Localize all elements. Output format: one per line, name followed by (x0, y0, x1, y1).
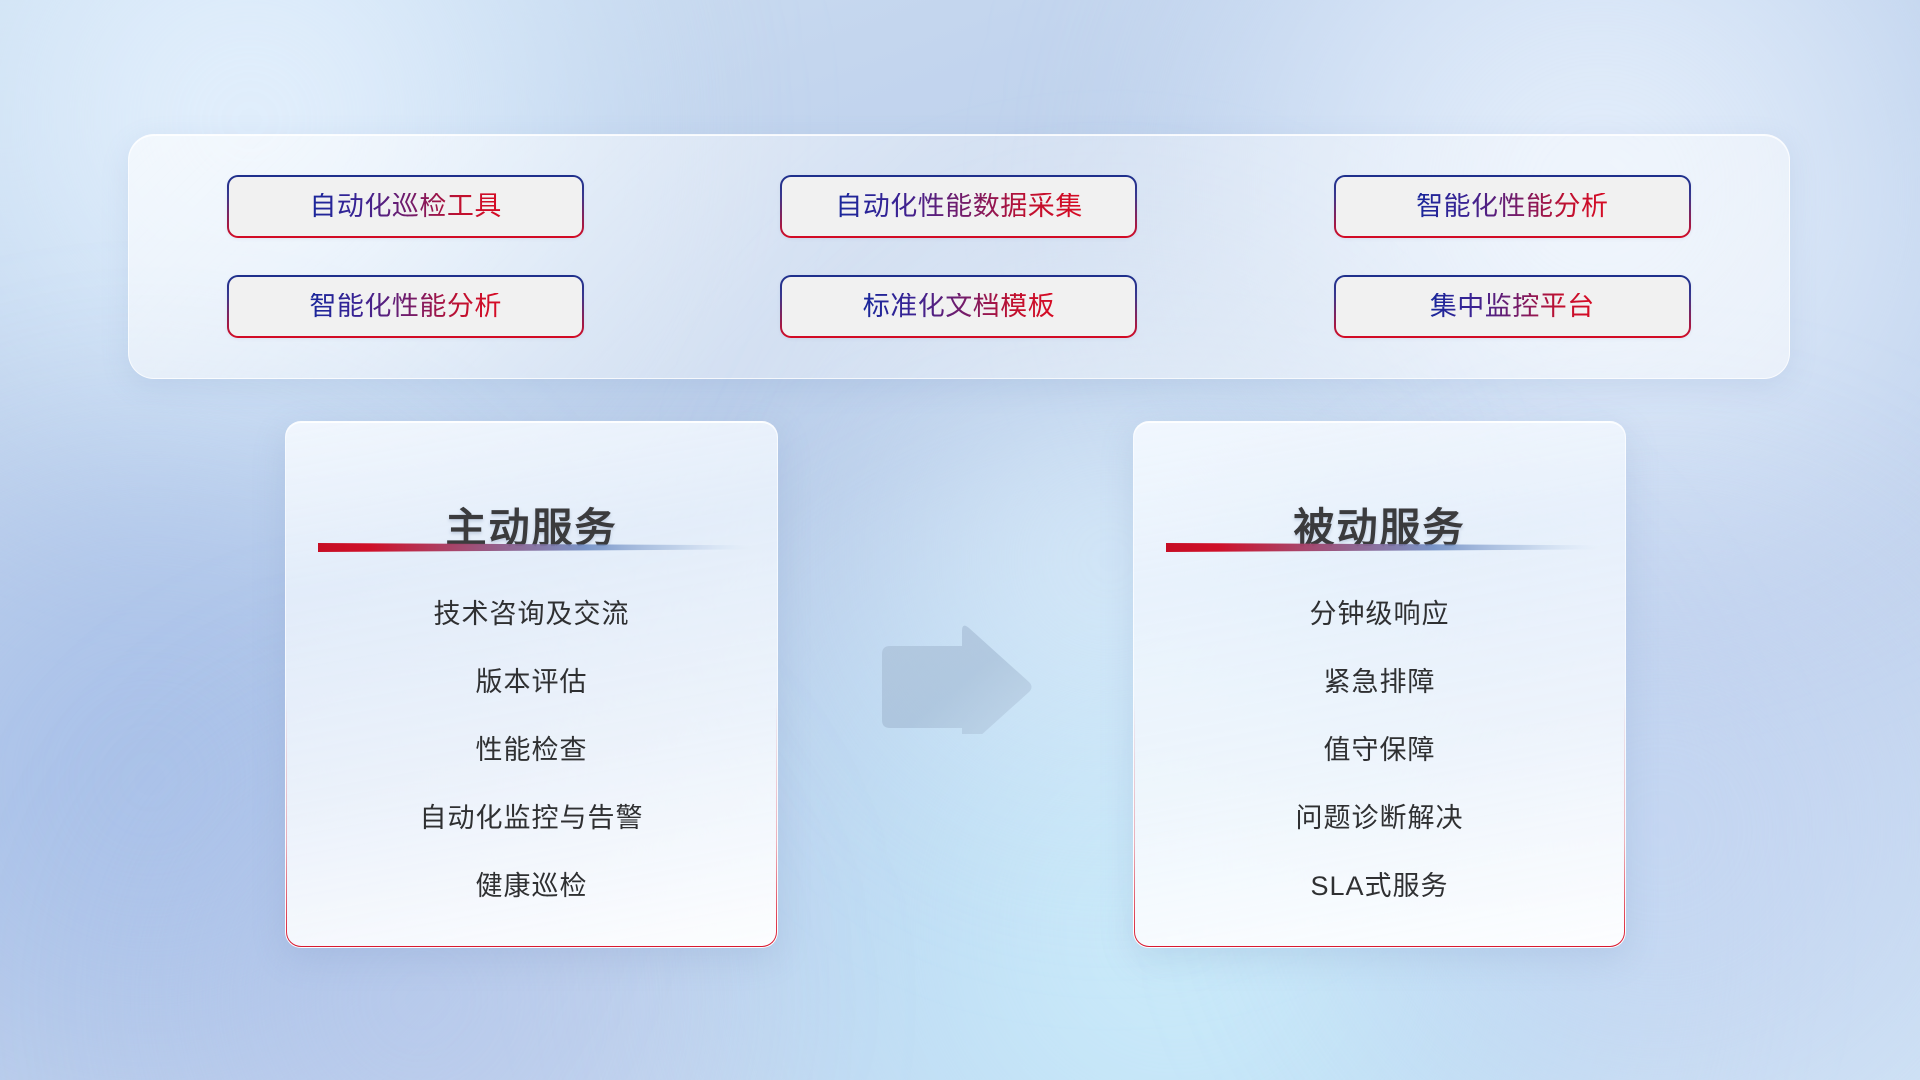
list-item[interactable]: 分钟级响应 (1310, 601, 1450, 628)
list-item[interactable]: 健康巡检 (476, 873, 588, 900)
list-item[interactable]: 版本评估 (476, 669, 588, 696)
capability-tag-label: 集中监控平台 (1430, 293, 1595, 320)
capability-tag-label: 智能化性能分析 (1416, 193, 1609, 220)
list-item[interactable]: 紧急排障 (1324, 669, 1436, 696)
reactive-service-card: 被动服务 分钟级响应 紧急排障 值守保障 (1133, 421, 1626, 948)
proactive-card-divider (318, 542, 751, 553)
capability-tag[interactable]: 集中监控平台 (1334, 275, 1691, 338)
proactive-service-card: 主动服务 技术咨询及交流 版本评估 性能检查 (285, 421, 778, 948)
capability-tag[interactable]: 智能化性能分析 (1334, 175, 1691, 238)
capability-tag-label: 智能化性能分析 (309, 293, 502, 320)
capability-tag-label: 自动化性能数据采集 (835, 193, 1083, 220)
list-item[interactable]: 值守保障 (1324, 737, 1436, 764)
list-item[interactable]: 自动化监控与告警 (420, 805, 644, 832)
slide-stage: 自动化巡检工具 自动化性能数据采集 智能化性能分析 智能化性能分析 标准化文档模… (0, 0, 1920, 1080)
list-item[interactable]: 性能检查 (476, 737, 588, 764)
capability-tag[interactable]: 自动化巡检工具 (227, 175, 584, 238)
capability-tags-panel: 自动化巡检工具 自动化性能数据采集 智能化性能分析 智能化性能分析 标准化文档模… (128, 134, 1790, 379)
capability-tag[interactable]: 自动化性能数据采集 (780, 175, 1137, 238)
capability-tag-label: 自动化巡检工具 (309, 193, 502, 220)
capability-tag-label: 标准化文档模板 (863, 293, 1056, 320)
list-item[interactable]: 技术咨询及交流 (434, 601, 630, 628)
reactive-service-list: 分钟级响应 紧急排障 值守保障 问题诊断解决 SLA式服务 (1134, 580, 1625, 921)
capability-tag[interactable]: 智能化性能分析 (227, 275, 584, 338)
capability-tag[interactable]: 标准化文档模板 (780, 275, 1137, 338)
reactive-card-divider (1166, 542, 1599, 553)
proactive-service-list: 技术咨询及交流 版本评估 性能检查 自动化监控与告警 健康巡检 (286, 580, 777, 921)
list-item[interactable]: SLA式服务 (1310, 873, 1448, 900)
list-item[interactable]: 问题诊断解决 (1296, 805, 1464, 832)
capability-tag-grid: 自动化巡检工具 自动化性能数据采集 智能化性能分析 智能化性能分析 标准化文档模… (129, 175, 1789, 338)
right-arrow-icon (876, 624, 1036, 734)
